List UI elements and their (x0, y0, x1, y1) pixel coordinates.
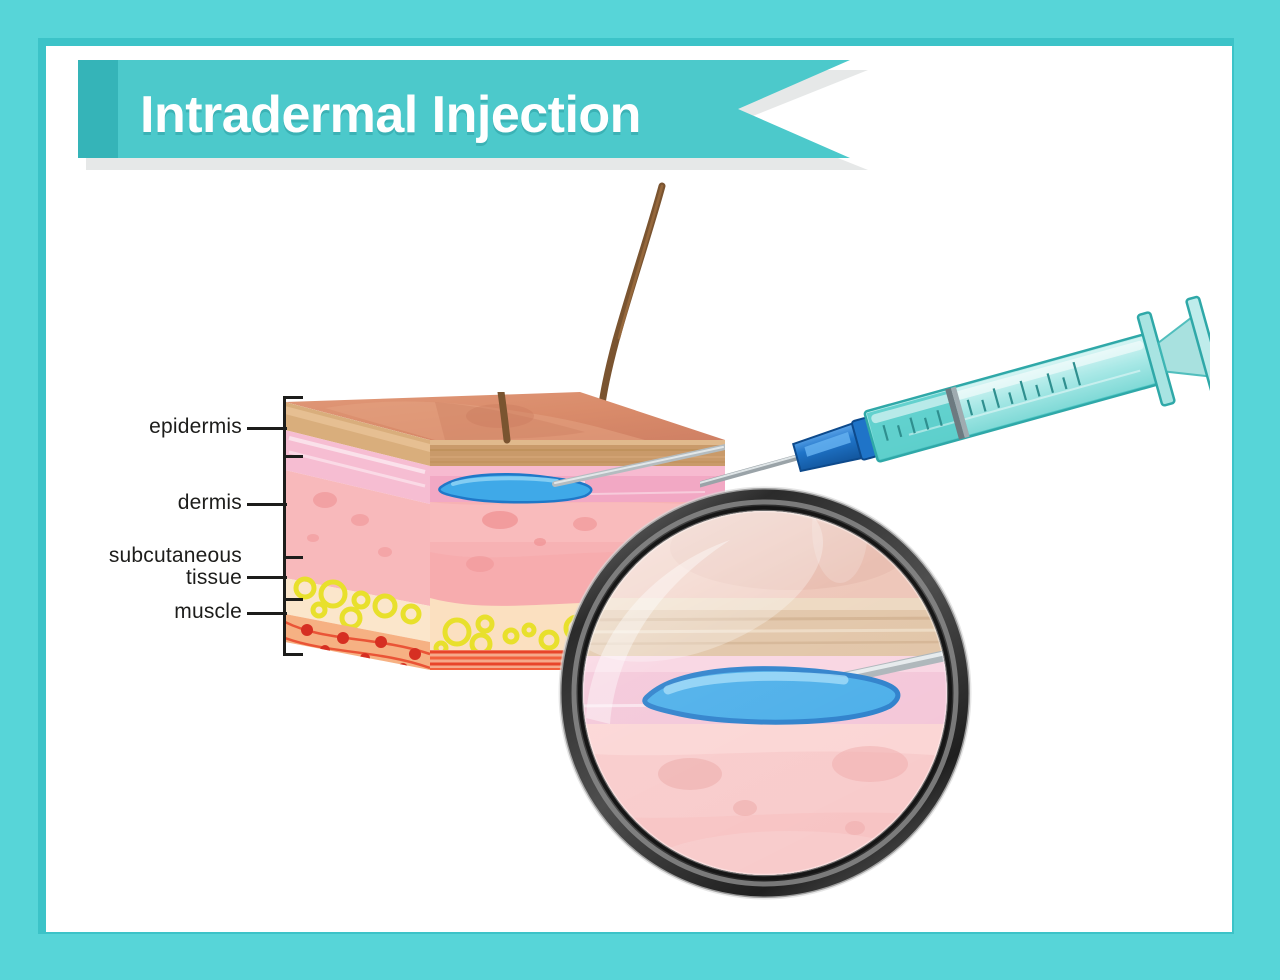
layer-bracket-spine (283, 396, 286, 656)
label-epidermis: epidermis (40, 416, 242, 438)
bracket-tick-dermis (283, 556, 303, 559)
leader-subcutaneous (247, 576, 287, 579)
magnifier-lens (540, 468, 990, 918)
bracket-tick-muscle (283, 653, 303, 656)
syringe (700, 295, 1210, 495)
hair-strand (590, 180, 680, 410)
poster-canvas: Intradermal Injection (0, 0, 1280, 980)
leader-epidermis (247, 427, 287, 430)
page-title: Intradermal Injection (140, 85, 641, 145)
label-subcutaneous-tissue: subcutaneous tissue (40, 545, 242, 589)
bracket-tick-top (283, 396, 303, 399)
title-banner: Intradermal Injection (78, 60, 868, 172)
label-muscle: muscle (40, 601, 242, 623)
label-dermis: dermis (40, 492, 242, 514)
leader-dermis (247, 503, 287, 506)
bracket-tick-subcutaneous (283, 598, 303, 601)
banner-left-tab (78, 60, 118, 158)
bracket-tick-epidermis (283, 455, 303, 458)
leader-muscle (247, 612, 287, 615)
